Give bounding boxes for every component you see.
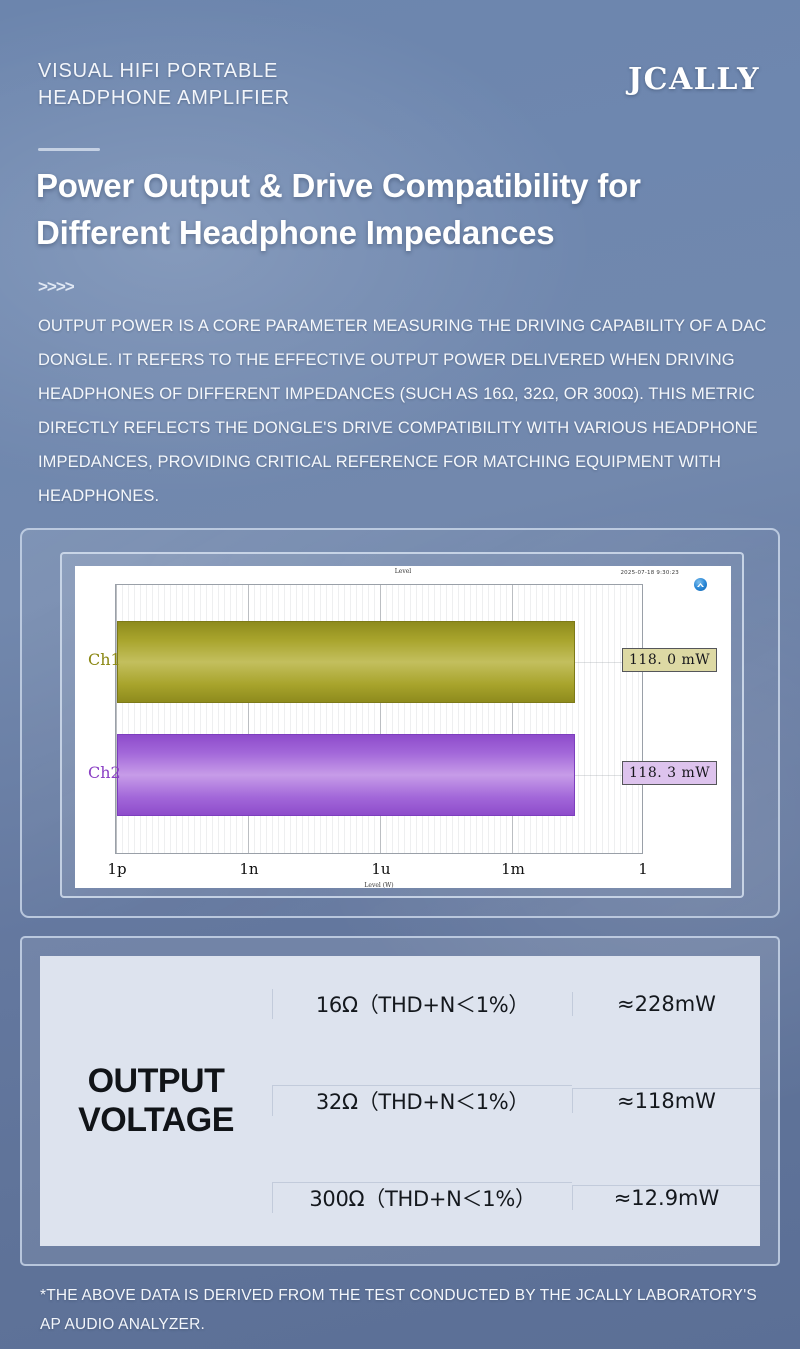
- spec-impedance-1: 32Ω（THD+N＜1%）: [272, 1085, 572, 1116]
- page-title-line-1: Power Output & Drive Compatibility for: [36, 167, 641, 204]
- spec-power-2: ≈12.9mW: [572, 1185, 760, 1210]
- chart-x-axis: 1p 1n 1u 1m 1: [115, 860, 649, 880]
- chart-x-axis-label: Level (W): [115, 882, 643, 889]
- spec-table: OUTPUT VOLTAGE 16Ω（THD+N＜1%） ≈228mW 32Ω（…: [40, 956, 760, 1246]
- page-title: Power Output & Drive Compatibility for D…: [36, 163, 740, 257]
- page-title-line-2: Different Headphone Impedances: [36, 214, 554, 251]
- chart-canvas: Level 2025-07-18 9:30:23 1p 1n 1u 1m 1 L…: [75, 566, 731, 888]
- brand-logo: JCALLY: [628, 62, 760, 97]
- x-tick-1: 1n: [239, 860, 258, 878]
- spec-power-0: ≈228mW: [572, 992, 760, 1016]
- spec-power-1: ≈118mW: [572, 1088, 760, 1113]
- spec-panel-inner: OUTPUT VOLTAGE 16Ω（THD+N＜1%） ≈228mW 32Ω（…: [40, 956, 760, 1246]
- spec-heading-line-2: VOLTAGE: [78, 1101, 234, 1139]
- chart-panel-outer: Level 2025-07-18 9:30:23 1p 1n 1u 1m 1 L…: [20, 528, 780, 918]
- bar-ch1: [117, 621, 575, 703]
- spec-panel-outer: OUTPUT VOLTAGE 16Ω（THD+N＜1%） ≈228mW 32Ω（…: [20, 936, 780, 1266]
- x-tick-0: 1p: [107, 860, 126, 878]
- x-tick-2: 1u: [371, 860, 390, 878]
- spec-impedance-0: 16Ω（THD+N＜1%）: [272, 989, 572, 1019]
- x-tick-4: 1: [638, 860, 648, 878]
- title-divider: [38, 148, 100, 151]
- chart-value-ch1: 118. 0 mW: [622, 648, 717, 672]
- chevrons-icon: >>>>: [38, 277, 74, 297]
- chart-series-label-ch1: Ch1: [88, 650, 121, 669]
- spec-table-heading: OUTPUT VOLTAGE: [40, 1062, 272, 1140]
- chart-panel-inner: Level 2025-07-18 9:30:23 1p 1n 1u 1m 1 L…: [60, 552, 744, 898]
- footnote: *THE ABOVE DATA IS DERIVED FROM THE TEST…: [40, 1282, 760, 1339]
- intro-paragraph: OUTPUT POWER IS A CORE PARAMETER MEASURI…: [38, 310, 778, 514]
- x-tick-3: 1m: [501, 860, 525, 878]
- chart-plot-area: [115, 584, 643, 854]
- chart-series-label-ch2: Ch2: [88, 763, 121, 782]
- chart-timestamp: 2025-07-18 9:30:23: [620, 570, 679, 576]
- bar-ch2: [117, 734, 575, 816]
- ap-logo-icon: [694, 578, 707, 591]
- page-header: VISUAL HIFI PORTABLE HEADPHONE AMPLIFIER…: [38, 58, 762, 111]
- spec-heading-line-1: OUTPUT: [88, 1062, 225, 1100]
- spec-impedance-2: 300Ω（THD+N＜1%）: [272, 1182, 572, 1213]
- chart-value-ch2: 118. 3 mW: [622, 761, 717, 785]
